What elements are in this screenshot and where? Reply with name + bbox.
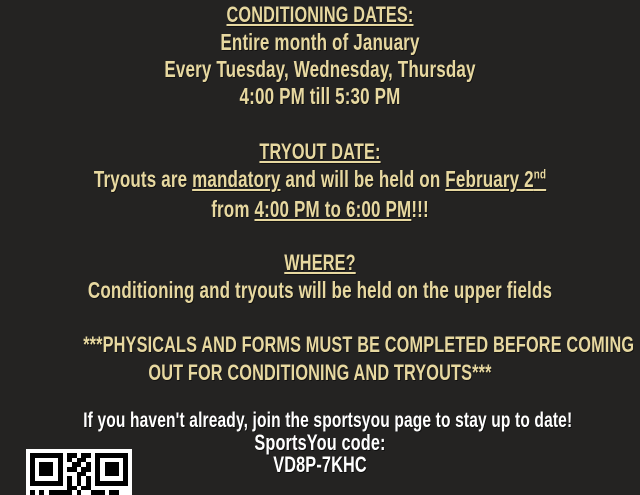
conditioning-line-1: Entire month of January: [83, 31, 557, 54]
sportsyou-line-2: SportsYou code:: [83, 432, 557, 454]
tryout-ordinal-suffix: nd: [534, 166, 546, 181]
tryout-heading-text: TRYOUT DATE:: [259, 139, 380, 164]
tryout-line-2-suffix: !!!: [411, 196, 428, 222]
tryout-line-2: from 4:00 PM to 6:00 PM!!!: [83, 198, 557, 221]
conditioning-line-2: Every Tuesday, Wednesday, Thursday: [83, 58, 557, 81]
physicals-line-1: ***PHYSICALS AND FORMS MUST BE COMPLETED…: [83, 334, 557, 356]
sportsyou-code: VD8P-7KHC: [83, 454, 557, 476]
physicals-line-2: OUT FOR CONDITIONING AND TRYOUTS***: [83, 362, 557, 384]
tryout-time-range: 4:00 PM to 6:00 PM: [254, 196, 411, 222]
conditioning-line-3: 4:00 PM till 5:30 PM: [83, 85, 557, 108]
tryout-date-text: February 2nd: [445, 166, 546, 192]
tryout-month-day: February 2: [445, 166, 534, 192]
conditioning-heading-text: CONDITIONING DATES:: [226, 2, 413, 27]
tryout-line-1-mid: and will be held on: [280, 166, 445, 192]
flyer-poster: CONDITIONING DATES: Entire month of Janu…: [0, 0, 640, 480]
tryout-line-1-prefix: Tryouts are: [94, 166, 192, 192]
where-heading: WHERE?: [83, 252, 557, 274]
where-heading-text: WHERE?: [284, 250, 355, 275]
where-line-1: Conditioning and tryouts will be held on…: [83, 279, 557, 302]
tryout-heading: TRYOUT DATE:: [83, 141, 557, 163]
tryout-line-1: Tryouts are mandatory and will be held o…: [83, 168, 557, 191]
qr-code-grid: [30, 453, 128, 495]
conditioning-heading: CONDITIONING DATES:: [83, 4, 557, 26]
tryout-line-2-prefix: from: [211, 196, 254, 222]
tryout-mandatory-text: mandatory: [192, 166, 280, 192]
sportsyou-qr-code[interactable]: [26, 449, 132, 495]
sportsyou-line-1: If you haven't already, join the sportsy…: [83, 410, 557, 431]
conditioning-section: CONDITIONING DATES:: [0, 4, 640, 26]
